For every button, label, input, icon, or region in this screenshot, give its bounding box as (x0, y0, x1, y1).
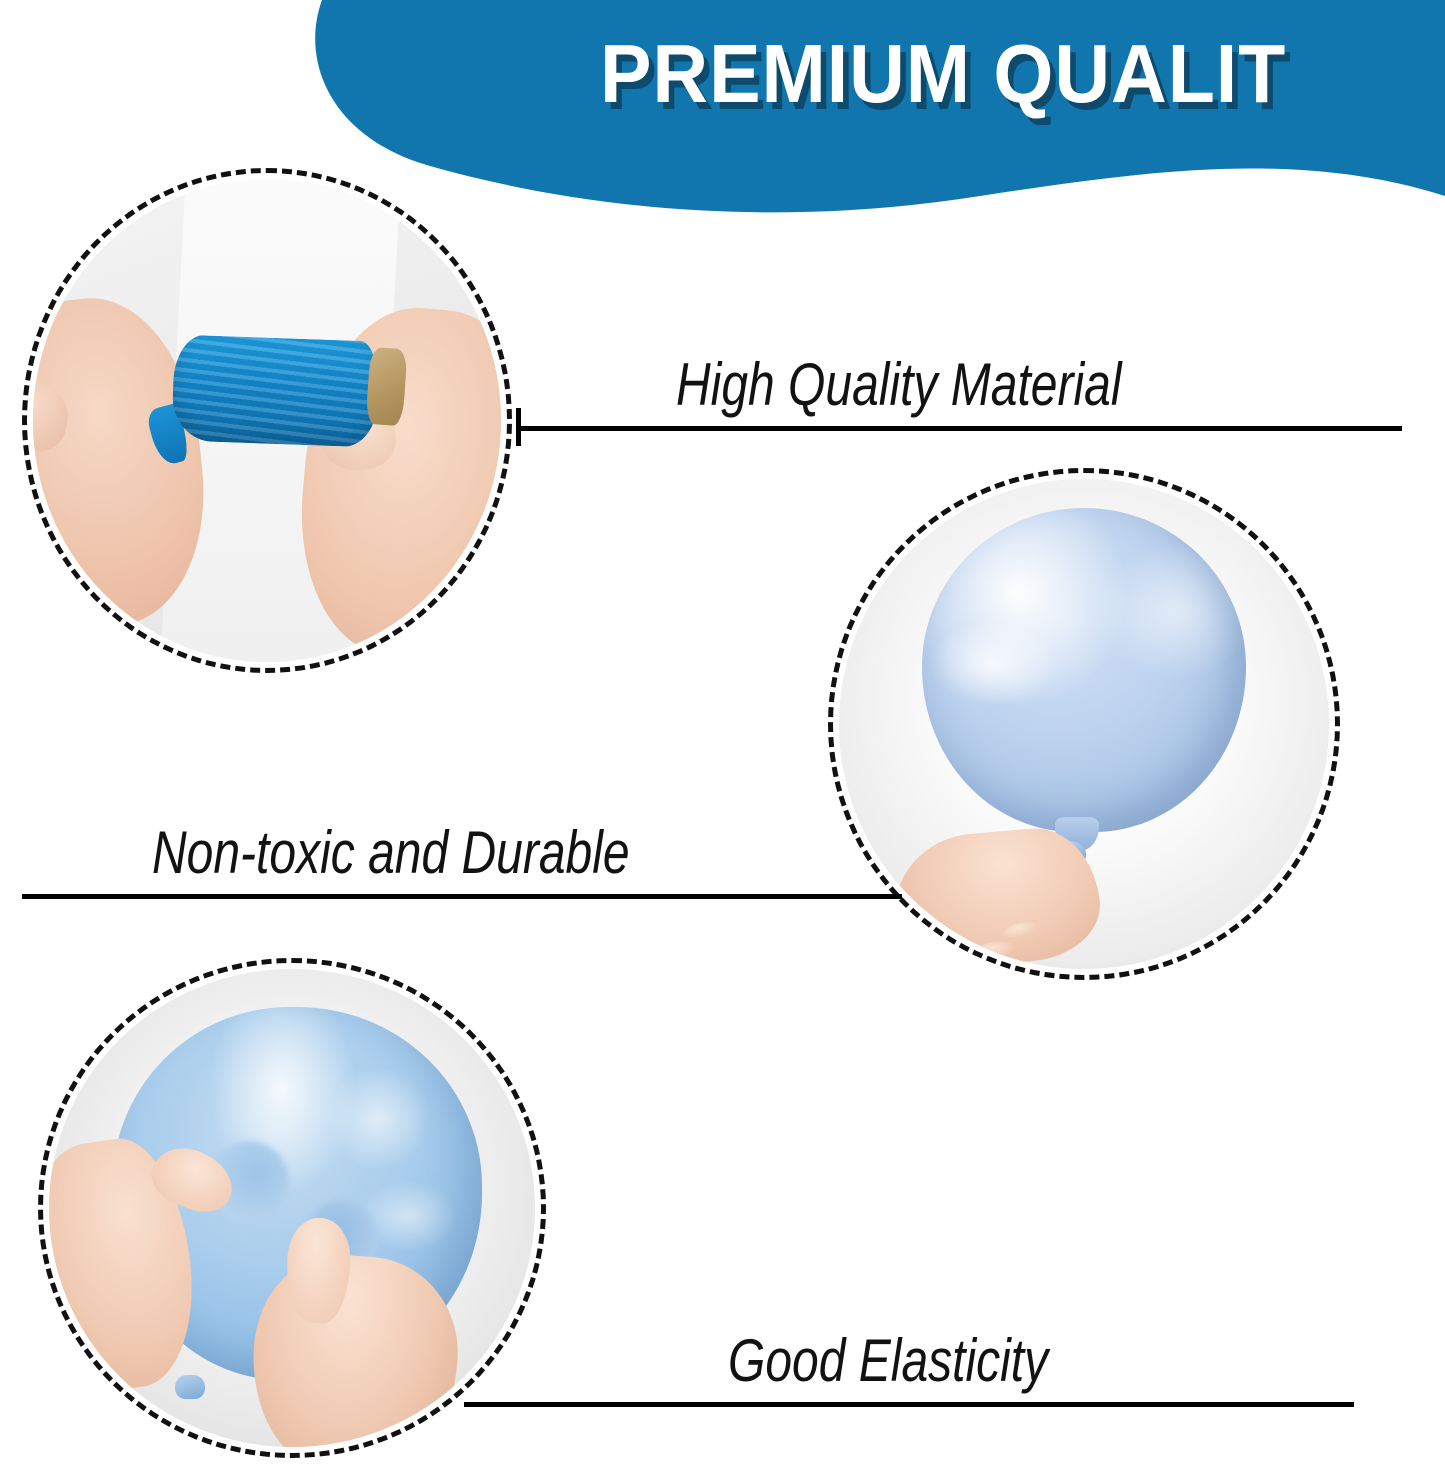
photo-hands-squeezing-balloon (49, 969, 535, 1447)
feature-label-high-quality-material: High Quality Material (676, 350, 1122, 419)
product-feature-infographic: PREMIUM QUALIT (0, 0, 1445, 1474)
feature-label-non-toxic-and-durable: Non-toxic and Durable (152, 818, 630, 887)
middle-finger (973, 939, 1016, 960)
feature-label-good-elasticity: Good Elasticity (728, 1326, 1048, 1395)
page-title: PREMIUM QUALIT (600, 26, 1418, 122)
index-finger (1002, 918, 1039, 940)
photo-hand-holding-inflated-balloon (839, 479, 1329, 969)
balloon-knot (175, 1375, 204, 1399)
photo-hands-stretching-balloon (33, 179, 501, 662)
connector-line-non-toxic-and-durable (22, 894, 902, 899)
feature-photo-high-quality-material (22, 168, 512, 673)
finger-cot (365, 347, 408, 427)
connector-line-high-quality-material (516, 426, 1402, 431)
inflated-blue-balloon (922, 508, 1245, 831)
left-hand-thumb (33, 377, 73, 455)
feature-photo-non-toxic-and-durable (828, 468, 1340, 980)
feature-photo-good-elasticity (38, 958, 546, 1458)
deflated-blue-balloon (172, 335, 381, 448)
connector-line-good-elasticity (464, 1402, 1354, 1407)
